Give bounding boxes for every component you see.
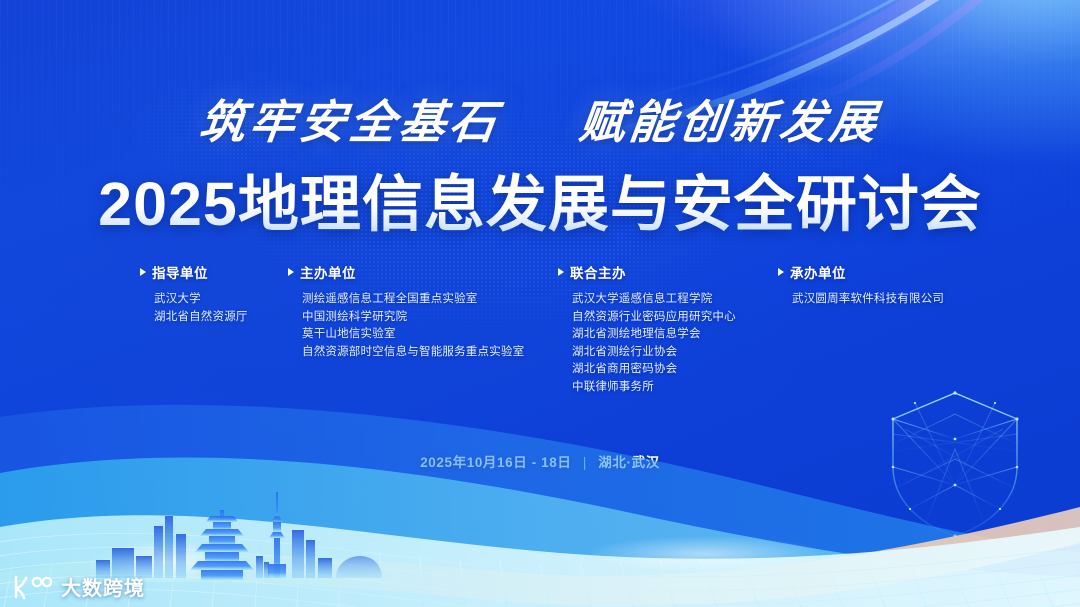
calligraphy-slogan: 筑牢安全基石 赋能创新发展 — [0, 86, 1080, 152]
list-item: 中国测绘科学研究院 — [302, 309, 524, 327]
org-column-heading: 主办单位 — [288, 262, 524, 282]
k100-logo-icon — [10, 574, 54, 600]
org-column-co-host: 联合主办 武汉大学遥感信息工程学院 自然资源行业密码应用研究中心 湖北省测绘地理… — [558, 262, 736, 396]
org-heading-label: 承办单位 — [790, 262, 846, 282]
org-column-guidance: 指导单位 武汉大学 湖北省自然资源厅 — [140, 262, 248, 326]
org-column-host: 主办单位 测绘遥感信息工程全国重点实验室 中国测绘科学研究院 莫干山地信实验室 … — [288, 262, 524, 361]
org-column-heading: 指导单位 — [140, 262, 248, 282]
wuhan-skyline-silhouette — [96, 486, 386, 582]
list-item: 武汉大学遥感信息工程学院 — [572, 291, 736, 309]
triangle-bullet-icon — [558, 268, 564, 276]
org-heading-label: 联合主办 — [570, 262, 626, 282]
list-item: 自然资源行业密码应用研究中心 — [572, 309, 736, 327]
list-item: 湖北省商用密码协会 — [572, 361, 736, 379]
org-column-organizer: 承办单位 武汉圆周率软件科技有限公司 — [778, 262, 944, 309]
list-item: 自然资源部时空信息与智能服务重点实验室 — [302, 344, 524, 362]
triangle-bullet-icon — [140, 268, 146, 276]
org-column-heading: 联合主办 — [558, 262, 736, 282]
org-heading-label: 指导单位 — [152, 262, 208, 282]
org-list: 测绘遥感信息工程全国重点实验室 中国测绘科学研究院 莫干山地信实验室 自然资源部… — [288, 291, 524, 361]
conference-poster: 筑牢安全基石 赋能创新发展 2025地理信息发展与安全研讨会 指导单位 武汉大学… — [0, 0, 1080, 607]
list-item: 湖北省测绘地理信息学会 — [572, 326, 736, 344]
org-list: 武汉圆周率软件科技有限公司 — [778, 291, 944, 309]
triangle-bullet-icon — [288, 268, 294, 276]
list-item: 武汉大学 — [154, 291, 248, 309]
list-item: 莫干山地信实验室 — [302, 326, 524, 344]
watermark: 大数跨境 — [10, 572, 145, 601]
list-item: 湖北省自然资源厅 — [154, 309, 248, 327]
watermark-label: 大数跨境 — [61, 572, 145, 601]
org-heading-label: 主办单位 — [300, 262, 356, 282]
page-title: 2025地理信息发展与安全研讨会 — [0, 154, 1080, 243]
org-column-heading: 承办单位 — [778, 262, 944, 282]
org-list: 武汉大学 湖北省自然资源厅 — [140, 291, 248, 326]
list-item: 武汉圆周率软件科技有限公司 — [792, 291, 944, 309]
list-item: 湖北省测绘行业协会 — [572, 344, 736, 362]
list-item: 测绘遥感信息工程全国重点实验室 — [302, 291, 524, 309]
triangle-bullet-icon — [778, 268, 784, 276]
